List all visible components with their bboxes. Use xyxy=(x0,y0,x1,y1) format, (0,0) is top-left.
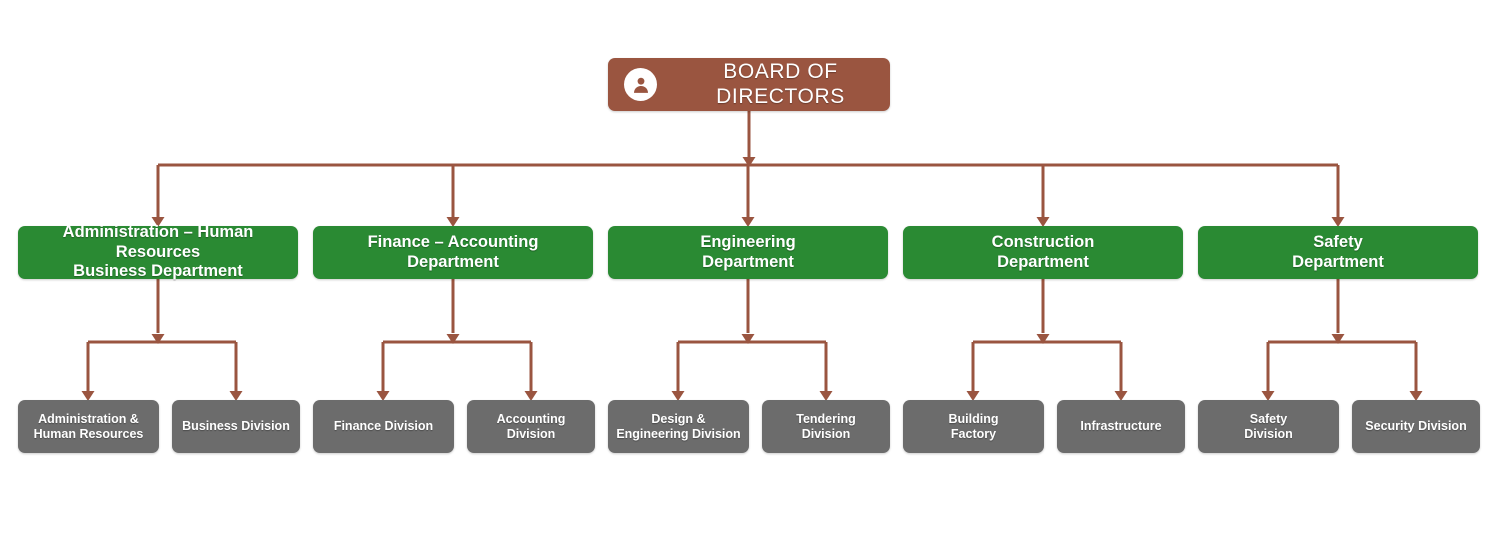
node-label-line1: Accounting Division xyxy=(472,412,590,442)
org-chart: BOARD OF DIRECTORS Administration – Huma… xyxy=(0,0,1496,549)
node-label: Administration – Human Resources Busines… xyxy=(24,223,292,281)
node-department-engineering[interactable]: Engineering Department xyxy=(608,226,888,279)
node-division-tendering[interactable]: Tendering Division xyxy=(762,400,890,453)
node-label: Design & Engineering Division xyxy=(616,412,740,442)
node-division-accounting[interactable]: Accounting Division xyxy=(467,400,595,453)
node-label-line1: Administration & xyxy=(34,412,144,427)
node-label-line2: Factory xyxy=(949,427,999,442)
node-label-line1: Security Division xyxy=(1365,419,1466,434)
sub-bus-arrowhead-0 xyxy=(152,334,165,344)
node-division-infrastructure[interactable]: Infrastructure xyxy=(1057,400,1185,453)
node-department-finance-accounting[interactable]: Finance – Accounting Department xyxy=(313,226,593,279)
node-label-line2: Engineering Division xyxy=(616,427,740,442)
node-division-finance[interactable]: Finance Division xyxy=(313,400,454,453)
node-label: Tendering Division xyxy=(796,412,856,442)
node-label-line1: Safety xyxy=(1292,233,1384,252)
node-division-safety[interactable]: Safety Division xyxy=(1198,400,1339,453)
node-label: Infrastructure xyxy=(1080,419,1161,434)
node-department-administration-hr[interactable]: Administration – Human Resources Busines… xyxy=(18,226,298,279)
node-label: Finance – Accounting Department xyxy=(368,233,539,272)
node-label-line1: Building xyxy=(949,412,999,427)
node-label-line2: Department xyxy=(700,253,795,272)
node-label-line2: Department xyxy=(1292,253,1384,272)
node-label-line1: Engineering xyxy=(700,233,795,252)
node-board-of-directors[interactable]: BOARD OF DIRECTORS xyxy=(608,58,890,111)
node-label: Safety Department xyxy=(1292,233,1384,272)
node-label-line1: Safety xyxy=(1244,412,1293,427)
node-department-safety[interactable]: Safety Department xyxy=(1198,226,1478,279)
node-label: Accounting Division xyxy=(472,412,590,442)
node-label-line1: Business Division xyxy=(182,419,290,434)
node-division-design-engineering[interactable]: Design & Engineering Division xyxy=(608,400,749,453)
node-label: Safety Division xyxy=(1244,412,1293,442)
node-label: Business Division xyxy=(182,419,290,434)
node-division-building-factory[interactable]: Building Factory xyxy=(903,400,1044,453)
node-label: Finance Division xyxy=(334,419,433,434)
person-icon xyxy=(624,68,657,101)
node-label: Security Division xyxy=(1365,419,1466,434)
node-label-line1: Tendering xyxy=(796,412,856,427)
node-label-line1: Construction xyxy=(992,233,1095,252)
node-label-line2: Department xyxy=(992,253,1095,272)
node-label-line1: Administration – Human Resources xyxy=(24,223,292,262)
node-label-line1: Finance Division xyxy=(334,419,433,434)
node-label: Construction Department xyxy=(992,233,1095,272)
node-label: Building Factory xyxy=(949,412,999,442)
node-label-line1: Infrastructure xyxy=(1080,419,1161,434)
node-label: Engineering Department xyxy=(700,233,795,272)
node-label-line2: Human Resources xyxy=(34,427,144,442)
node-label: BOARD OF DIRECTORS xyxy=(671,60,890,110)
node-division-security[interactable]: Security Division xyxy=(1352,400,1480,453)
node-label-line1: Design & xyxy=(616,412,740,427)
sub-bus-arrowhead-2 xyxy=(742,334,755,344)
root-bus-arrowhead xyxy=(743,157,756,167)
node-label: Administration & Human Resources xyxy=(34,412,144,442)
sub-bus-arrowhead-1 xyxy=(447,334,460,344)
node-label-line2: Division xyxy=(1244,427,1293,442)
sub-bus-arrowhead-3 xyxy=(1037,334,1050,344)
node-division-business[interactable]: Business Division xyxy=(172,400,300,453)
node-division-administration-hr[interactable]: Administration & Human Resources xyxy=(18,400,159,453)
sub-bus-arrowhead-4 xyxy=(1332,334,1345,344)
node-label-line2: Department xyxy=(368,253,539,272)
node-department-construction[interactable]: Construction Department xyxy=(903,226,1183,279)
node-label-line2: Business Department xyxy=(24,262,292,281)
node-label-line2: Division xyxy=(796,427,856,442)
node-label-line1: Finance – Accounting xyxy=(368,233,539,252)
